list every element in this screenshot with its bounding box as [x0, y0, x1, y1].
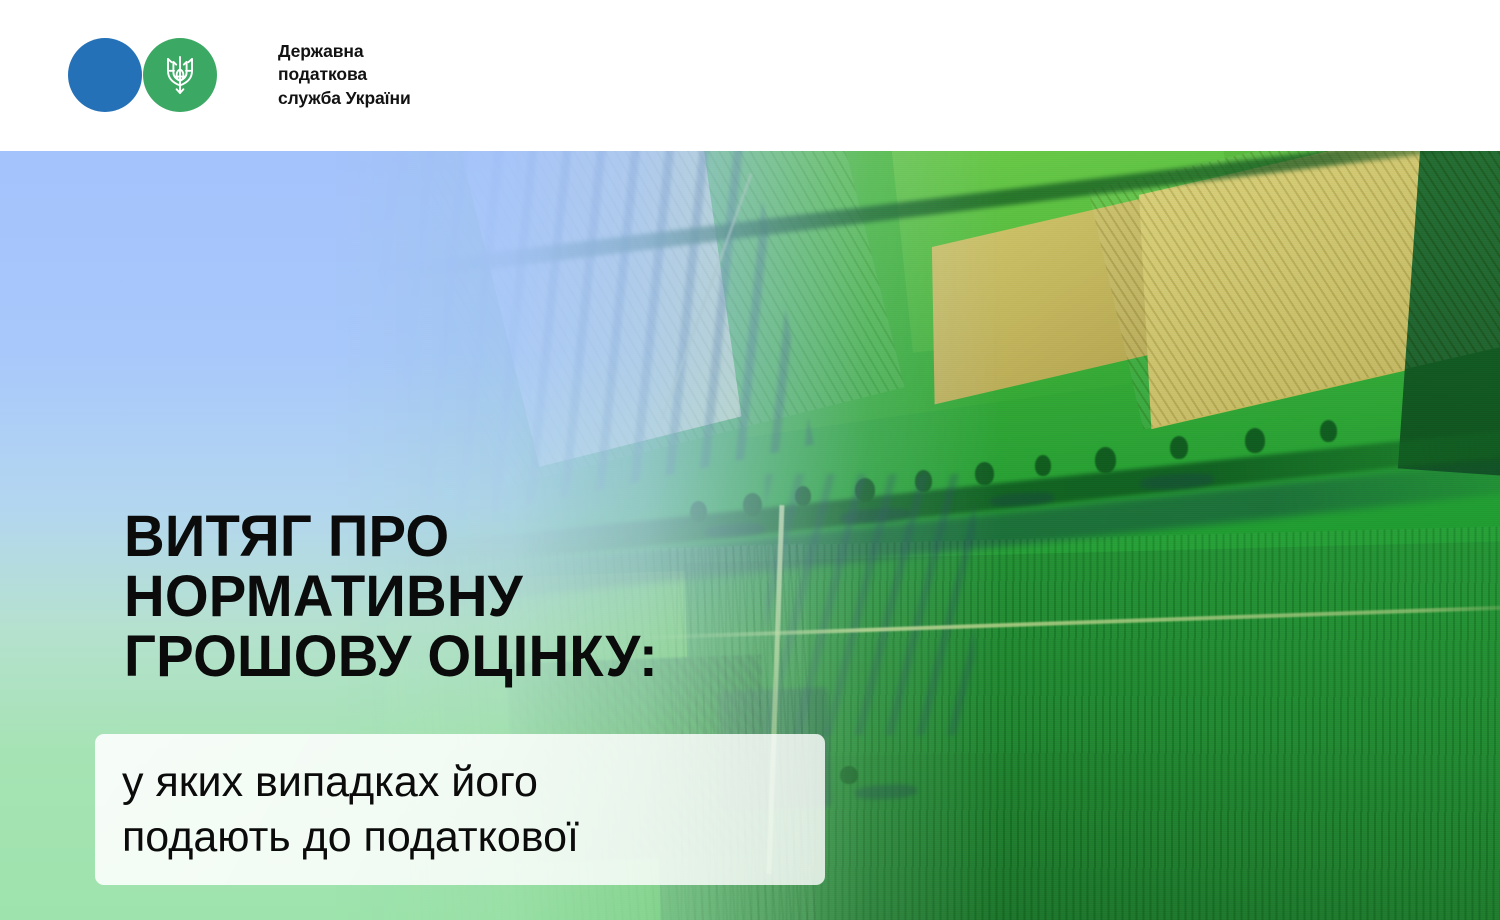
green-circle-icon	[143, 38, 217, 112]
logo-marks	[68, 36, 198, 114]
site-header: Державна податкова служба України	[0, 0, 1500, 151]
ukrainian-trident-emblem	[163, 53, 197, 97]
subtitle-panel: у яких випадках його подають до податков…	[95, 734, 825, 885]
page-subtitle: у яких випадках його подають до податков…	[95, 755, 579, 865]
organization-name: Державна податкова служба України	[278, 40, 411, 110]
banner-page: Державна податкова служба України	[0, 0, 1500, 920]
hero-section: ВИТЯГ ПРО НОРМАТИВНУ ГРОШОВУ ОЦІНКУ: у я…	[0, 151, 1500, 920]
organization-logo[interactable]: Державна податкова служба України	[68, 36, 411, 114]
page-title: ВИТЯГ ПРО НОРМАТИВНУ ГРОШОВУ ОЦІНКУ:	[124, 507, 658, 687]
blue-circle-icon	[68, 38, 142, 112]
